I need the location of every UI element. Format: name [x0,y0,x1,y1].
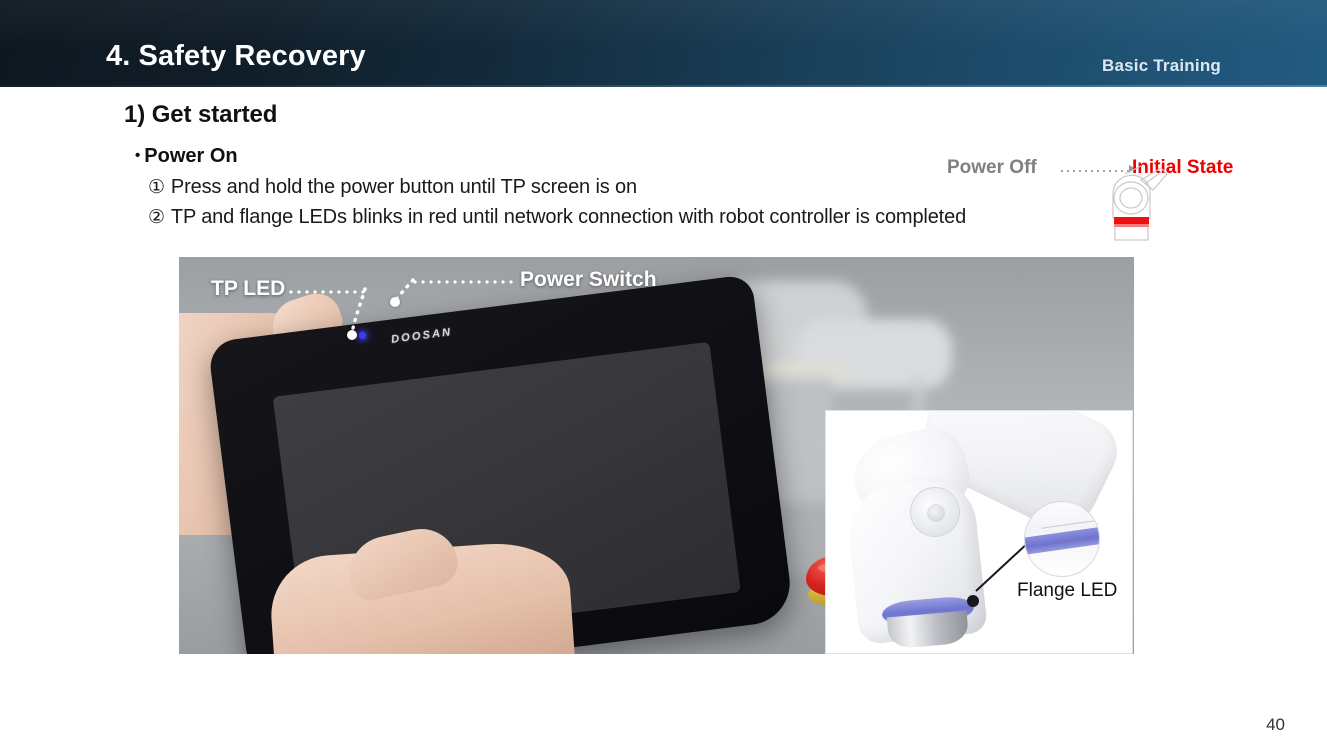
flange-magnifier-circle [1024,501,1100,577]
photo-label-power-switch: Power Switch [520,268,657,292]
teach-pendant-photo: DOOSAN TP LED Power Switch [179,257,1134,654]
power-switch-leader-line [411,280,513,284]
flange-metal-tip [887,611,969,650]
bullet-power-on: •Power On [135,145,238,168]
step-text-1: Press and hold the power button until TP… [171,176,637,198]
page-number: 40 [1266,715,1285,735]
slide: 4. Safety Recovery Basic Training 1) Get… [0,0,1327,739]
step-text-2: TP and flange LEDs blinks in red until n… [171,206,966,228]
state-note: Power Off Initial State [947,155,1267,245]
bullet-dot-icon: • [135,147,140,164]
page-title-number: 4. [106,40,130,72]
step-marker-1-icon: ① [148,176,165,199]
step-marker-2-icon: ② [148,206,165,229]
flange-led-label: Flange LED [1017,580,1117,602]
tp-led-leader-curve [339,287,379,343]
header-course-tag: Basic Training [1102,56,1221,76]
section-heading: 1) Get started [124,101,277,129]
photo-label-tp-led: TP LED [211,277,285,301]
page-title: 4. Safety Recovery [106,40,366,73]
slide-header: 4. Safety Recovery Basic Training [0,0,1327,87]
robot-joint-line-art-icon [1095,160,1175,248]
flange-callout-dot [967,595,979,607]
page-title-text: Safety Recovery [130,40,365,72]
tp-led-leader-endpoint [347,330,357,340]
bullet-power-on-label: Power On [144,145,237,167]
step-item-1: ①Press and hold the power button until T… [148,176,637,199]
robot-wrist-disc [910,487,960,537]
power-off-label: Power Off [947,157,1037,179]
step-item-2: ②TP and flange LEDs blinks in red until … [148,206,966,229]
power-switch-leader-endpoint [390,297,400,307]
flange-led-inset: Flange LED [825,410,1133,654]
